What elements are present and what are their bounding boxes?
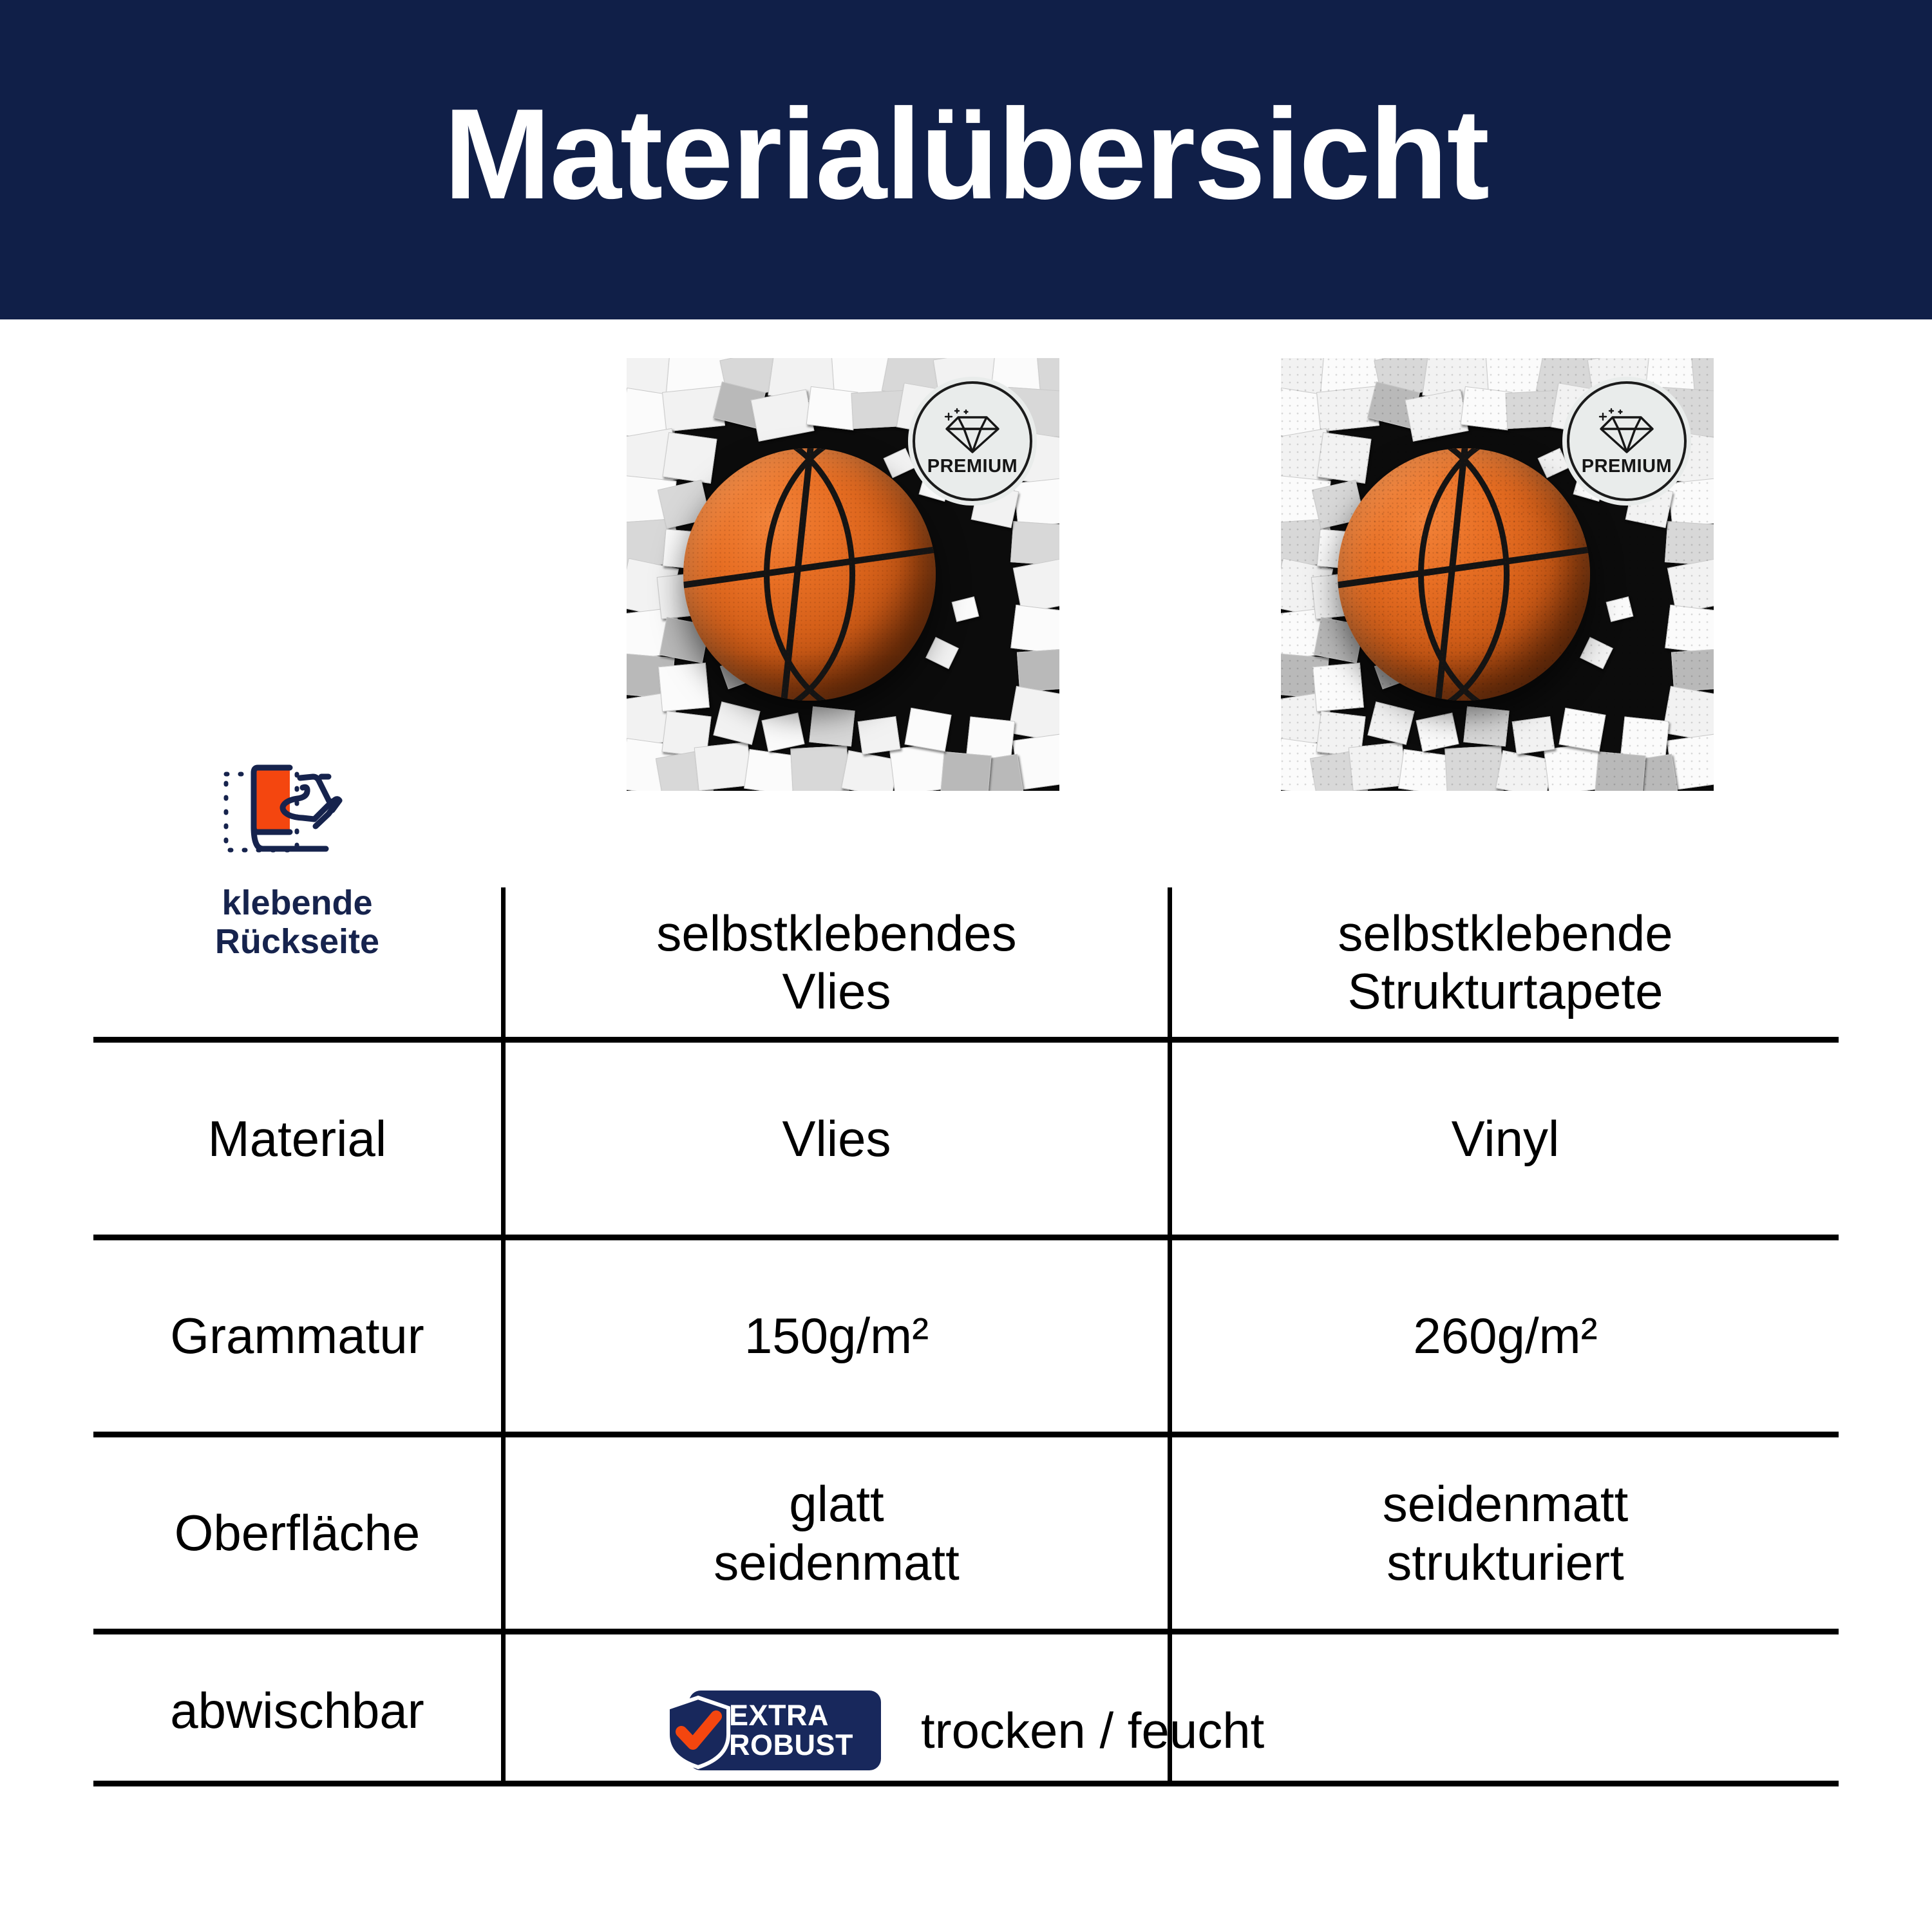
table-cell-material-struktur: Vinyl — [1172, 1043, 1839, 1235]
table-hline — [93, 1235, 1839, 1240]
product-name-line2: Vlies — [782, 963, 891, 1019]
wipeable-value: trocken / feucht — [921, 1685, 1436, 1776]
table-cell-product-vlies: selbstklebendes Vlies — [506, 887, 1168, 1037]
table-cell-oberflaeche-struktur: seidenmatt strukturiert — [1172, 1437, 1839, 1629]
shield-check-icon — [662, 1694, 734, 1770]
diamond-icon — [1597, 407, 1656, 455]
table-row-label-grammatur: Grammatur — [93, 1240, 501, 1432]
material-overview-page: Materialübersicht — [0, 0, 1932, 1932]
table-cell-product-struktur: selbstklebende Strukturtapete — [1172, 887, 1839, 1037]
extra-robust-badge: EXTRA ROBUST — [662, 1685, 881, 1776]
table-hline — [93, 1037, 1839, 1043]
product-image-strukturtapete: PREMIUM — [1281, 358, 1714, 791]
product-name-line1: selbstklebende — [1338, 905, 1672, 961]
basketball — [683, 448, 936, 701]
premium-badge: PREMIUM — [1567, 381, 1687, 501]
basketball — [1338, 448, 1590, 701]
table-row-label-abwischbar: abwischbar — [93, 1634, 501, 1786]
extra-robust-text: EXTRA ROBUST — [729, 1694, 877, 1766]
premium-badge: PREMIUM — [913, 381, 1032, 501]
surface-line1: glatt — [789, 1475, 884, 1532]
table-vline — [1168, 887, 1172, 1786]
product-image-vlies: PREMIUM — [627, 358, 1059, 791]
table-cell-material-vlies: Vlies — [506, 1043, 1168, 1235]
surface-line2: strukturiert — [1387, 1534, 1624, 1591]
surface-line2: seidenmatt — [714, 1534, 960, 1591]
table-cell-grammatur-vlies: 150g/m² — [506, 1240, 1168, 1432]
product-name-line2: Strukturtapete — [1348, 963, 1663, 1019]
table-cell-oberflaeche-vlies: glatt seidenmatt — [506, 1437, 1168, 1629]
table-hline — [93, 1432, 1839, 1437]
table-row-label-material: Material — [93, 1043, 501, 1235]
extra-robust-line2: ROBUST — [729, 1730, 853, 1760]
table-cell-grammatur-struktur: 260g/m² — [1172, 1240, 1839, 1432]
table-hline — [93, 1629, 1839, 1634]
page-title: Materialübersicht — [0, 0, 1932, 319]
spec-table: selbstklebendes Vlies selbstklebende Str… — [93, 887, 1839, 1786]
table-vline — [501, 887, 506, 1786]
extra-robust-line1: EXTRA — [729, 1701, 829, 1730]
diamond-icon — [943, 407, 1002, 455]
premium-badge-label: PREMIUM — [1582, 457, 1672, 476]
peel-sticker-hand-icon — [218, 760, 377, 873]
premium-badge-label: PREMIUM — [927, 457, 1018, 476]
product-name-line1: selbstklebendes — [656, 905, 1016, 961]
surface-line1: seidenmatt — [1383, 1475, 1629, 1532]
table-row-label-oberflaeche: Oberfläche — [93, 1437, 501, 1629]
